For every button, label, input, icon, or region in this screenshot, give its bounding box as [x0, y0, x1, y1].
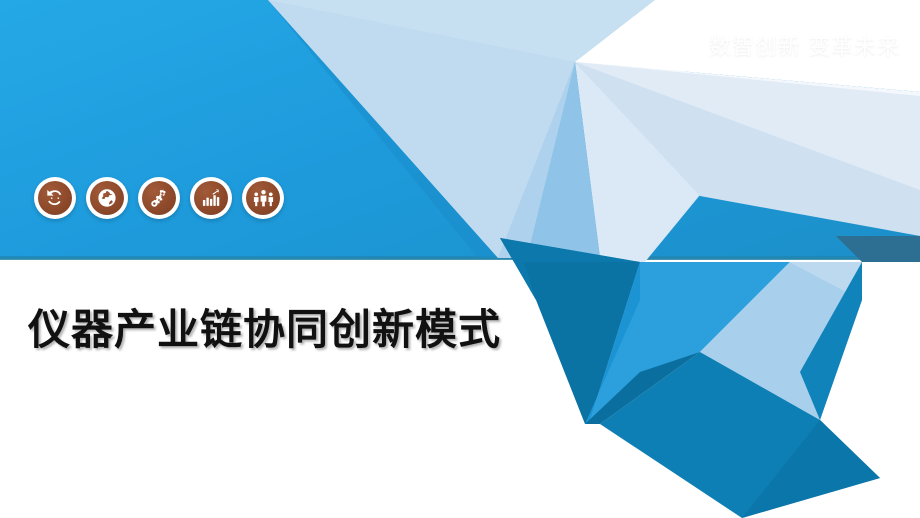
icon-row [34, 177, 284, 219]
presentation-slide: 数智创新 变革未来 [0, 0, 920, 518]
poly-navy-strip [836, 236, 920, 262]
slide-tagline: 数智创新 变革未来 [709, 29, 900, 61]
icon-badge-gears[interactable] [138, 177, 180, 219]
low-poly-decoration [0, 0, 920, 518]
people-group-icon [246, 181, 280, 215]
icon-badge-bar-chart[interactable] [190, 177, 232, 219]
page-title: 仪器产业链协同创新模式 [28, 296, 501, 357]
icon-badge-globe[interactable] [86, 177, 128, 219]
globe-icon [90, 181, 124, 215]
icon-badge-people[interactable] [242, 177, 284, 219]
bar-chart-growth-icon [194, 181, 228, 215]
recycle-arrow-icon [38, 181, 72, 215]
icon-badge-recycle[interactable] [34, 177, 76, 219]
gears-icon [142, 181, 176, 215]
